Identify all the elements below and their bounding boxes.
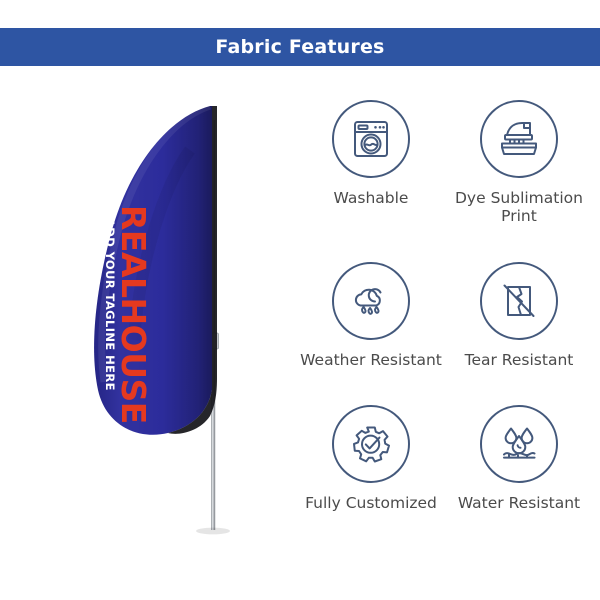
feature-label: Dye Sublimation Print [448, 189, 590, 226]
feature-item-tear-resistant[interactable]: Tear Resistant [448, 262, 590, 369]
feature-grid: Washable [300, 100, 590, 512]
torn-fabric-no-icon [494, 276, 544, 326]
feature-item-weather-resistant[interactable]: Weather Resistant [300, 262, 442, 369]
feature-icon-circle [480, 100, 558, 178]
feature-icon-circle [480, 262, 558, 340]
washing-machine-icon [347, 115, 395, 163]
feature-label: Fully Customized [305, 494, 437, 512]
header-banner: Fabric Features [0, 28, 600, 66]
feature-icon-circle [332, 262, 410, 340]
feature-item-washable[interactable]: Washable [300, 100, 442, 226]
gear-check-icon [346, 419, 396, 469]
feature-label: Water Resistant [458, 494, 580, 512]
feature-item-water-resistant[interactable]: Water Resistant [448, 405, 590, 512]
flag-illustration: REALHOUSE ADD YOUR TAGLINE HERE [60, 90, 280, 540]
flag-graphic [60, 90, 280, 540]
pole-shadow [196, 528, 230, 535]
feature-item-dye-sublimation-print[interactable]: Dye Sublimation Print [448, 100, 590, 226]
feature-item-fully-customized[interactable]: Fully Customized [300, 405, 442, 512]
feature-icon-circle [332, 100, 410, 178]
feature-label: Tear Resistant [465, 351, 574, 369]
rain-cloud-icon [346, 276, 396, 326]
feature-label: Weather Resistant [300, 351, 442, 369]
feature-label: Washable [334, 189, 409, 207]
feature-icon-circle [332, 405, 410, 483]
fabric-features-page: Fabric Features [0, 0, 600, 600]
page-title: Fabric Features [215, 36, 384, 58]
feature-icon-circle [480, 405, 558, 483]
flag-body [94, 106, 217, 435]
water-drops-repel-icon [494, 419, 544, 469]
iron-press-icon [494, 114, 544, 164]
